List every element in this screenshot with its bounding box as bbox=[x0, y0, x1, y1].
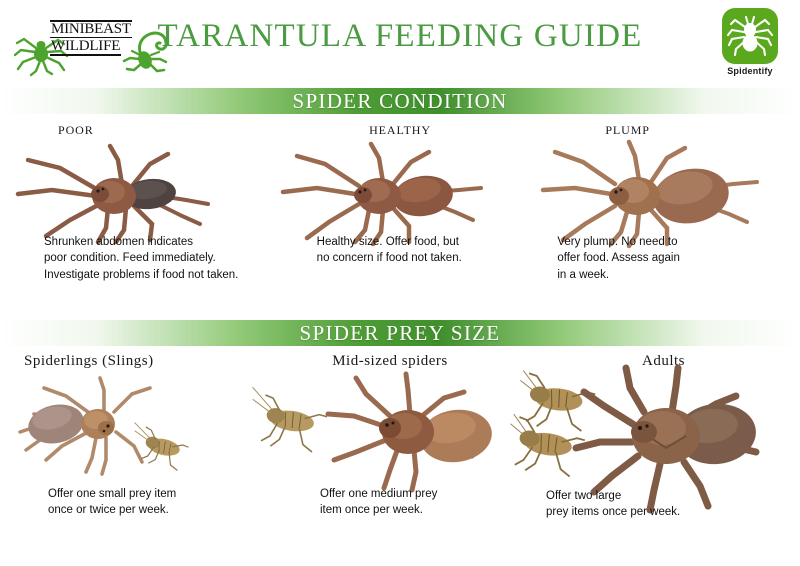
condition-description-healthy: Healthy size. Offer food, but no concern… bbox=[317, 234, 537, 267]
section-banner-label: SPIDER CONDITION bbox=[292, 89, 507, 114]
condition-card-plump: PLUMP bbox=[533, 114, 800, 314]
condition-description-poor: Shrunken abdomen indicates poor conditio… bbox=[44, 234, 284, 283]
spiderling-with-prey-image bbox=[0, 370, 260, 500]
condition-description-plump: Very plump. No need to offer food. Asses… bbox=[557, 234, 757, 283]
prey-card-midsized: Mid-sized spiders bbox=[260, 346, 520, 546]
prey-card-spiderlings: Spiderlings (Slings) bbox=[0, 346, 260, 546]
infographic-page: MINIBEAST WILDLIFE TARANTULA FEEDING GUI… bbox=[0, 0, 800, 566]
page-title: TARANTULA FEEDING GUIDE bbox=[0, 18, 800, 55]
condition-label-healthy: HEALTHY bbox=[267, 123, 534, 138]
spidentify-badge[interactable]: Spidentify bbox=[714, 8, 786, 76]
app-name-label: Spidentify bbox=[714, 66, 786, 76]
prey-card-adults: Adults bbox=[520, 346, 800, 546]
section-banner-spider-prey-size: SPIDER PREY SIZE bbox=[0, 320, 800, 346]
prey-label-spiderlings: Spiderlings (Slings) bbox=[0, 353, 260, 370]
prey-description-midsized: Offer one medium prey item once per week… bbox=[320, 486, 540, 519]
section-banner-spider-condition: SPIDER CONDITION bbox=[0, 88, 800, 114]
section-banner-label-2: SPIDER PREY SIZE bbox=[300, 321, 501, 346]
prey-description-spiderlings: Offer one small prey item once or twice … bbox=[48, 486, 268, 519]
condition-card-healthy: HEALTHY bbox=[267, 114, 534, 314]
header: MINIBEAST WILDLIFE TARANTULA FEEDING GUI… bbox=[0, 0, 800, 86]
condition-card-poor: POOR bbox=[0, 114, 267, 314]
spider-prey-size-row: Spiderlings (Slings) bbox=[0, 346, 800, 546]
spider-image-plump bbox=[533, 138, 800, 248]
prey-label-midsized: Mid-sized spiders bbox=[260, 353, 520, 370]
prey-description-adults: Offer two large prey items once per week… bbox=[546, 488, 776, 521]
app-icon-spider-glyph bbox=[722, 8, 778, 64]
condition-label-plump: PLUMP bbox=[533, 123, 800, 138]
spider-condition-row: POOR bbox=[0, 114, 800, 314]
spider-image-healthy bbox=[267, 138, 534, 248]
spider-image-poor bbox=[0, 138, 267, 248]
prey-label-adults: Adults bbox=[520, 353, 800, 370]
midsized-spider-with-prey-image bbox=[260, 370, 520, 500]
condition-label-poor: POOR bbox=[0, 123, 267, 138]
spider-app-icon[interactable] bbox=[722, 8, 778, 64]
